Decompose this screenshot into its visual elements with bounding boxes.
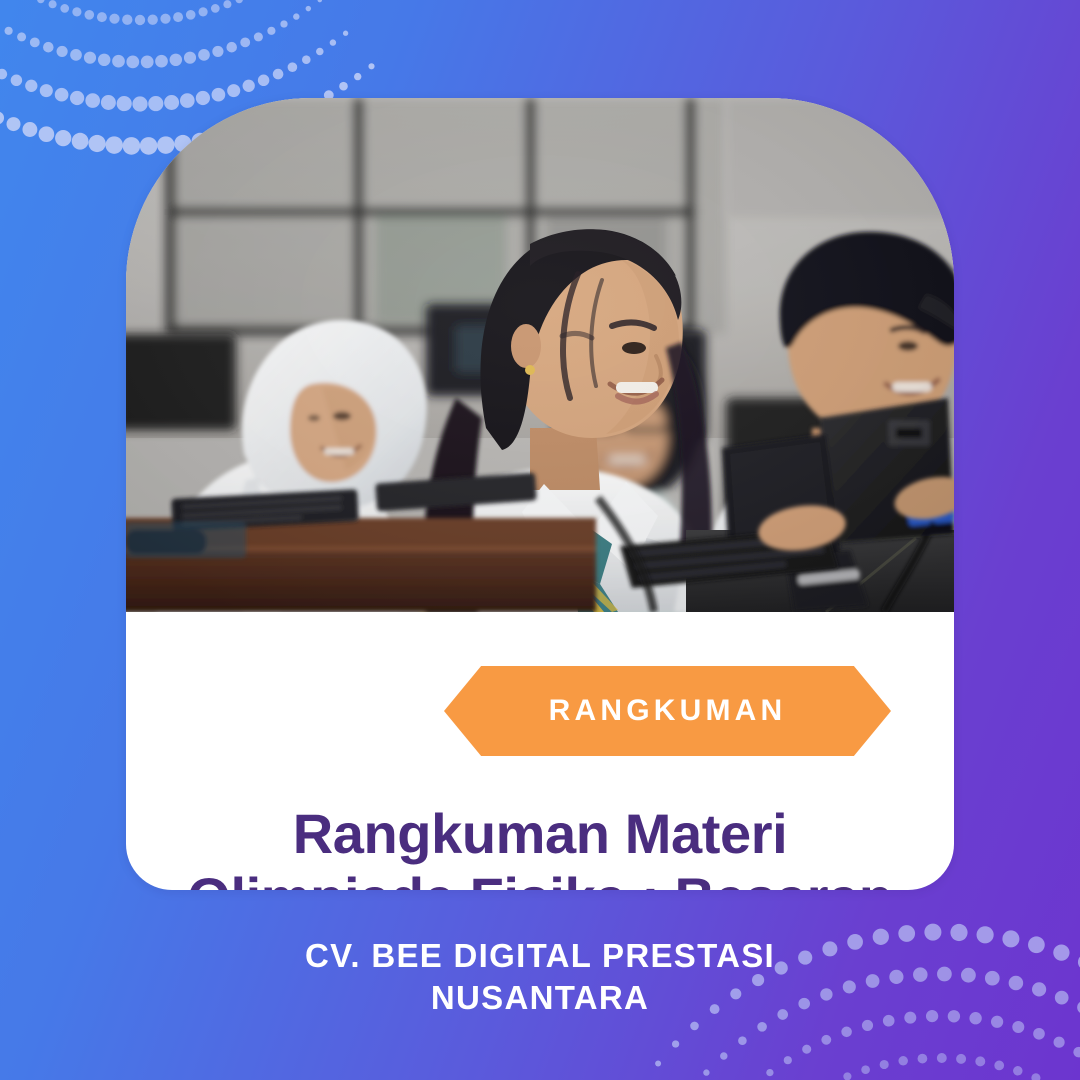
rangkuman-badge: RANGKUMAN	[444, 666, 891, 756]
company-name-line-1: CV. BEE DIGITAL PRESTASI	[90, 935, 990, 977]
company-name: CV. BEE DIGITAL PRESTASI NUSANTARA	[90, 935, 990, 1019]
classroom-photo	[126, 98, 954, 612]
page-title-line-2: Olimpiade Fisika : Besaran	[166, 866, 914, 890]
page-title-line-1: Rangkuman Materi	[166, 802, 914, 866]
rangkuman-badge-label: RANGKUMAN	[549, 696, 787, 726]
poster-canvas: RANGKUMAN Rangkuman Materi Olimpiade Fis…	[0, 0, 1080, 1080]
content-card: RANGKUMAN Rangkuman Materi Olimpiade Fis…	[126, 98, 954, 890]
company-name-line-2: NUSANTARA	[90, 977, 990, 1019]
page-title: Rangkuman Materi Olimpiade Fisika : Besa…	[166, 802, 914, 890]
